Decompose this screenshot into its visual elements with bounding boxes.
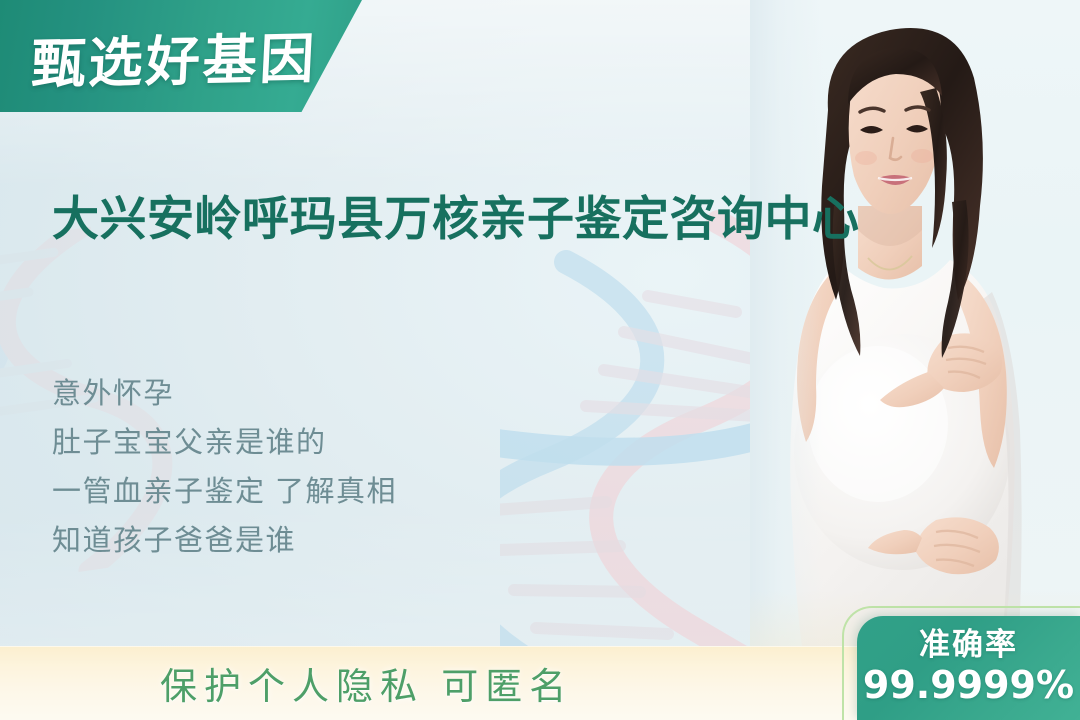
copy-line: 一管血亲子鉴定 了解真相 xyxy=(52,468,612,517)
brand-logo-text: 甄选好基因 xyxy=(30,14,319,99)
brand-logo-ribbon[interactable]: 甄选好基因 xyxy=(0,0,362,112)
marketing-copy-list: 意外怀孕 肚子宝宝父亲是谁的 一管血亲子鉴定 了解真相 知道孩子爸爸是谁 xyxy=(52,370,612,566)
photo-left-fade xyxy=(750,0,1080,660)
copy-line: 肚子宝宝父亲是谁的 xyxy=(52,419,612,468)
copy-line: 意外怀孕 xyxy=(52,370,612,419)
promo-poster: 甄选好基因 大兴安岭呼玛县万核亲子鉴定咨询中心 意外怀孕 肚子宝宝父亲是谁的 一… xyxy=(0,0,1080,720)
pregnant-woman-photo xyxy=(750,0,1080,660)
copy-line: 知道孩子爸爸是谁 xyxy=(52,517,612,566)
page-title: 大兴安岭呼玛县万核亲子鉴定咨询中心 xyxy=(52,189,864,250)
accuracy-badge-panel: 准确率 99.9999% xyxy=(857,616,1080,720)
accuracy-badge: 准确率 99.9999% xyxy=(842,608,1080,720)
privacy-tagline: 保护个人隐私 可匿名 xyxy=(160,656,573,710)
accuracy-badge-label: 准确率 xyxy=(919,629,1018,662)
accuracy-badge-value: 99.9999% xyxy=(863,664,1074,707)
